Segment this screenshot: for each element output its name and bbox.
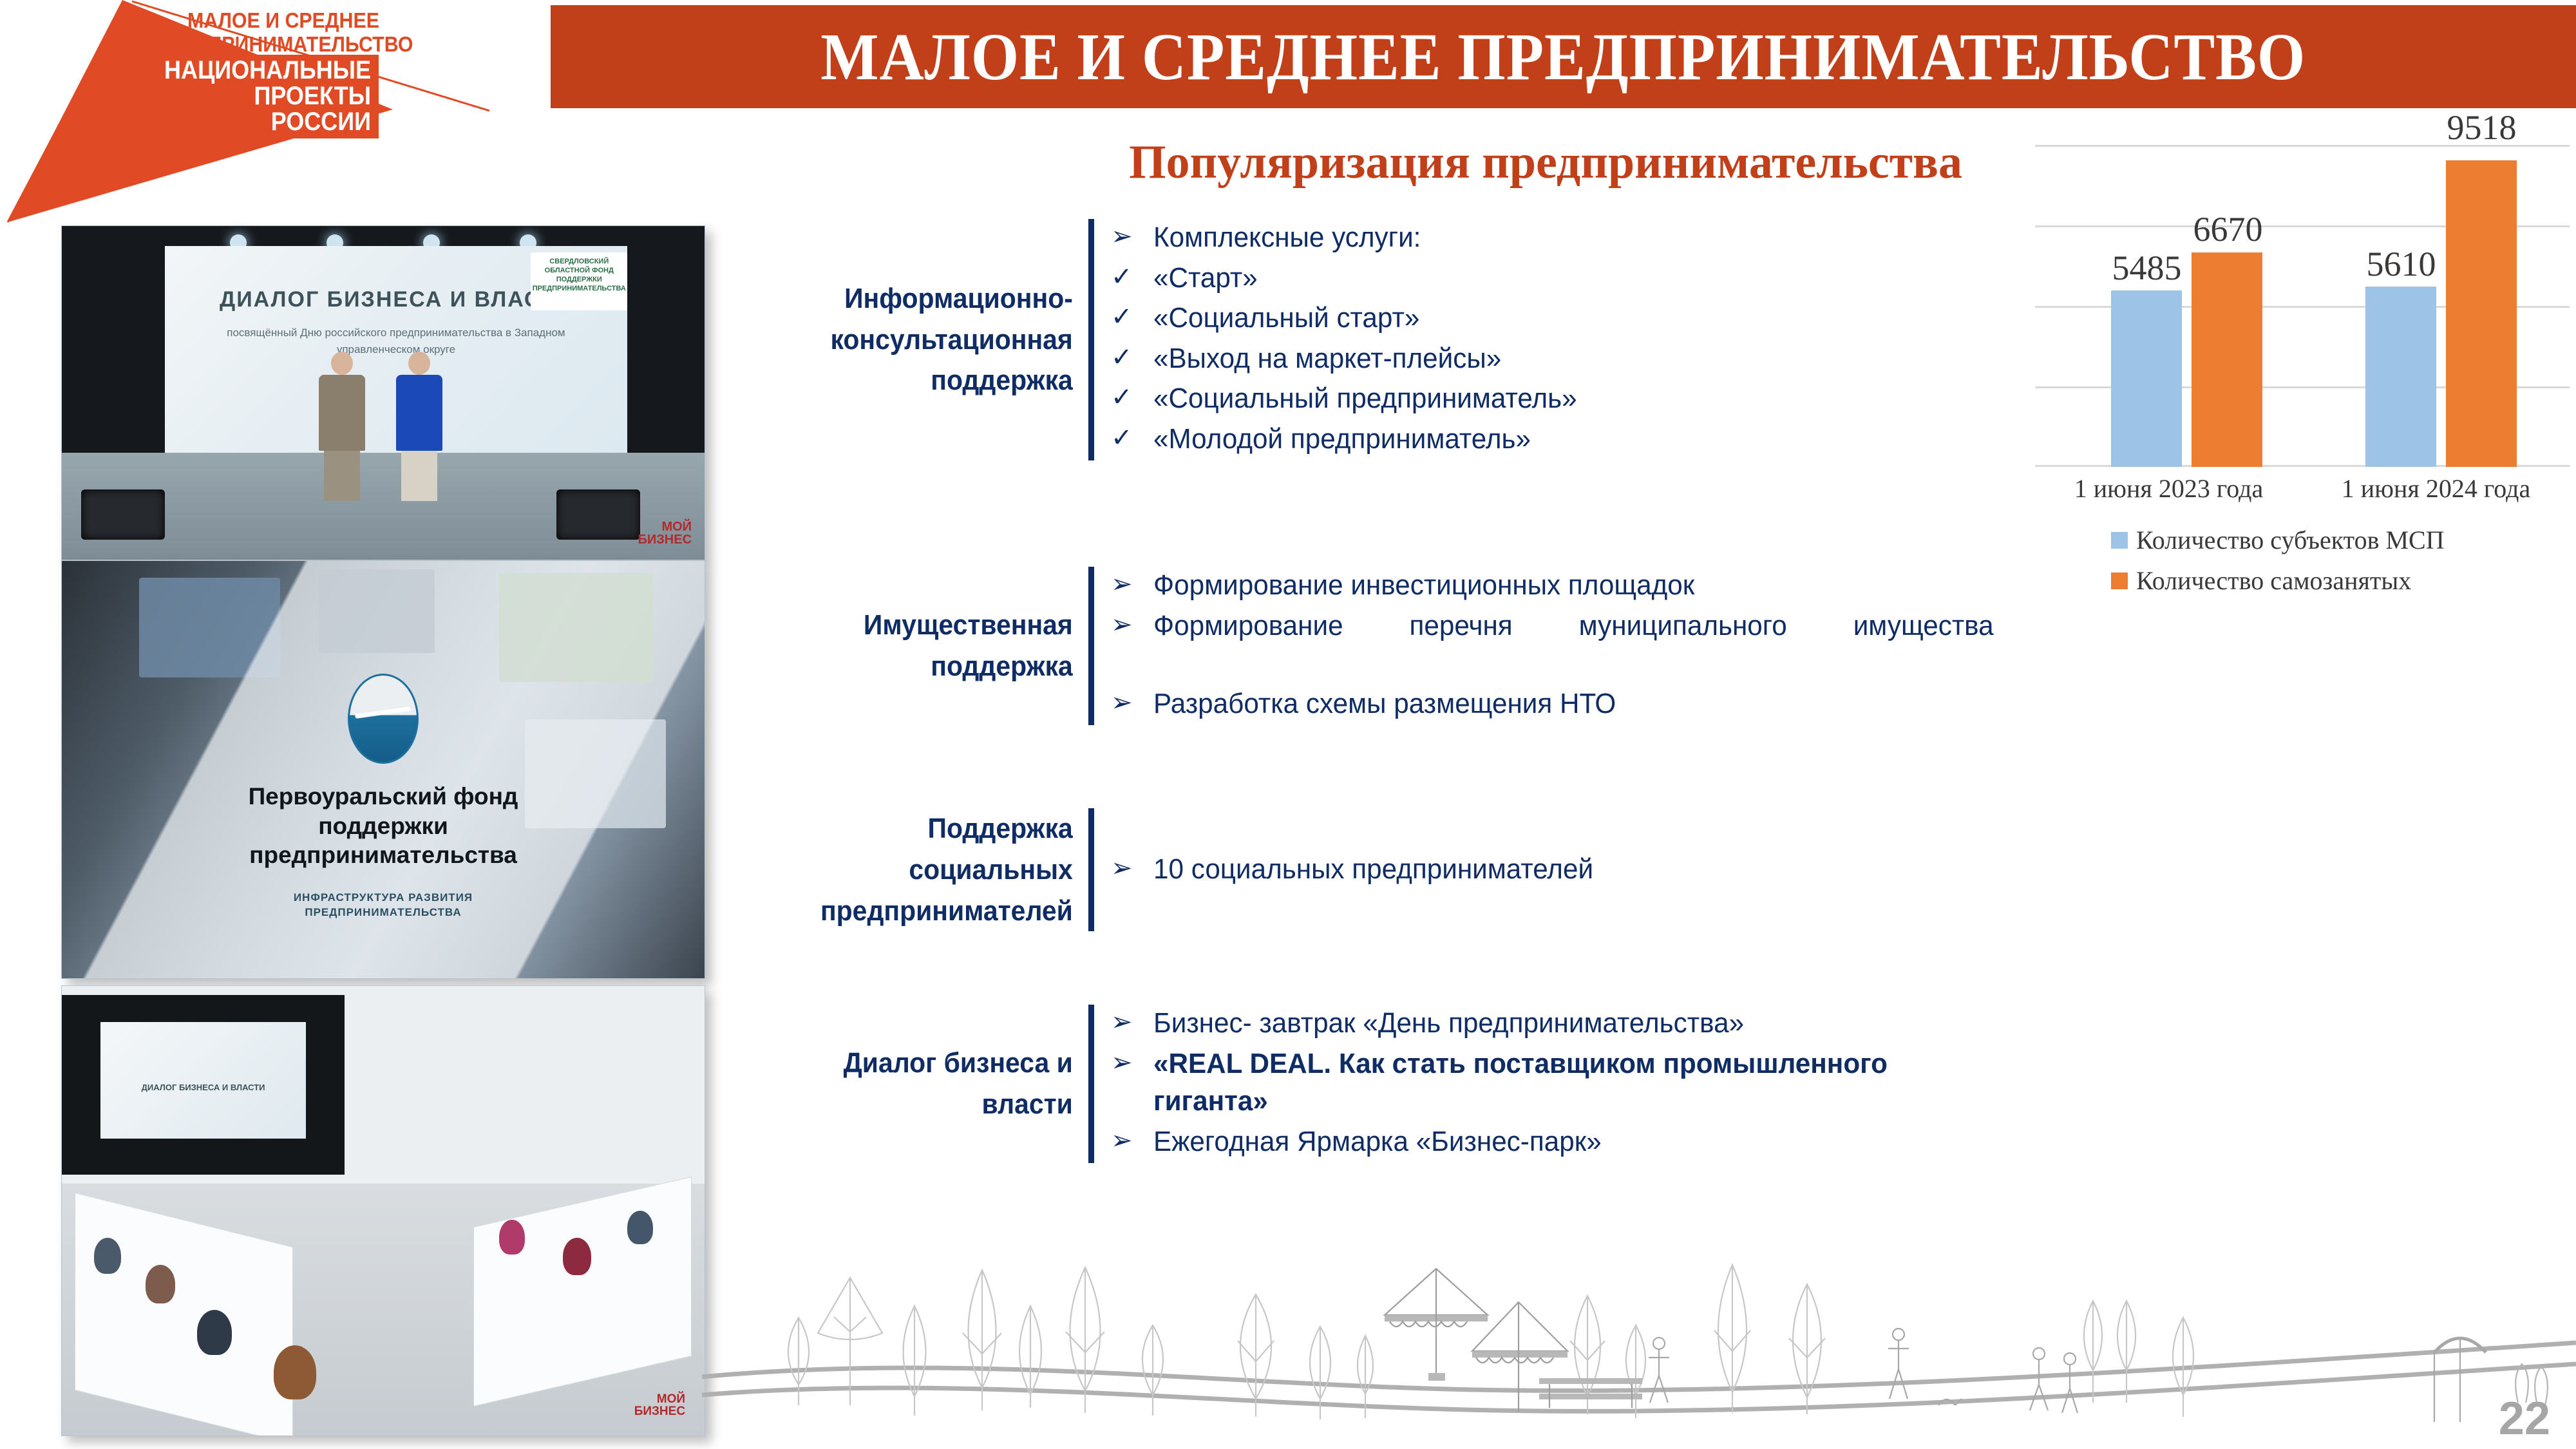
footer-park-illustration: 22 [702, 1256, 2576, 1449]
list-item: ➢ Ежегодная Ярмарка «Бизнес-парк» [1111, 1123, 2029, 1161]
list-item: ➢ «REAL DEAL. Как стать поставщиком пром… [1111, 1045, 2029, 1121]
legend-item-selfemployed: Количество самозанятых [2111, 565, 2445, 596]
list-item-text: Комплексные услуги: [1153, 219, 1994, 257]
block1-list: ➢ Комплексные услуги: ✓ «Старт» ✓ «Социа… [1094, 219, 2029, 460]
arrow-bullet-icon: ➢ [1111, 851, 1153, 885]
photo3-wm-line2: БИЗНЕС [634, 1405, 685, 1417]
photo2-title-line3: предпринимательства [113, 840, 653, 869]
list-item-text: «Молодой предприниматель» [1153, 421, 1994, 459]
content-block-information-support: Информационно-консультационная поддержка… [741, 219, 2029, 460]
chart-bar-selfemployed-2024 [2446, 160, 2517, 467]
legend-swatch-orange-icon [2111, 573, 2128, 589]
chart-bar-msp-2023 [2111, 290, 2182, 467]
block3-divider [1088, 808, 1094, 931]
block4-list: ➢ Бизнес- завтрак «День предпринимательс… [1094, 1005, 2029, 1163]
photo-pervouralsk-fund: Первоуральский фонд поддержки предприним… [61, 560, 705, 979]
content-block-social-entrepreneurs: Поддержка социальных предпринимателей ➢ … [741, 808, 2029, 931]
list-item: ✓ «Молодой предприниматель» [1111, 421, 2029, 459]
list-item: ✓ «Выход на маркет-плейсы» [1111, 340, 2029, 378]
photo1-speaker-left [81, 489, 165, 540]
list-item: ➢ Разработка схемы размещения НТО [1111, 685, 2029, 723]
page-number: 22 [2499, 1392, 2550, 1445]
list-item-text: Формирование перечня муниципального имущ… [1153, 607, 1994, 683]
photo3-screen-title: ДИАЛОГ БИЗНЕСА И ВЛАСТИ [100, 1083, 306, 1092]
photo3-attendee [627, 1211, 653, 1244]
block3-list: ➢ 10 социальных предпринимателей [1094, 808, 2029, 931]
photo3-attendee [274, 1345, 316, 1399]
check-bullet-icon: ✓ [1111, 299, 1153, 334]
list-item: ➢ Бизнес- завтрак «День предпринимательс… [1111, 1005, 2029, 1043]
block4-divider [1088, 1005, 1094, 1163]
photo1-person-right [396, 352, 442, 500]
list-item: ✓ «Социальный старт» [1111, 299, 2029, 337]
list-item-text: 10 социальных предпринимателей [1153, 851, 1593, 889]
chart-category-2024: 1 июня 2024 года [2342, 473, 2530, 504]
park-line-art-icon [702, 1256, 2576, 1449]
chart-bar-msp-2024 [2365, 287, 2436, 467]
check-bullet-icon: ✓ [1111, 260, 1153, 294]
list-item: ➢ Комплексные услуги: [1111, 219, 2029, 257]
legend-label-msp: Количество субъектов МСП [2136, 525, 2445, 555]
logo-badge-line-3: РОССИИ [142, 109, 371, 135]
photo1-wm-line2: БИЗНЕС [638, 533, 692, 546]
photo1-fund-logo: СВЕРДЛОВСКИЙ ОБЛАСТНОЙ ФОНД ПОДДЕРЖКИ ПР… [531, 252, 627, 310]
logo-top-text: МАЛОЕ И СРЕДНЕЕ ПРЕДПРИНИМАТЕЛЬСТВО [117, 9, 449, 57]
block1-divider [1088, 219, 1094, 460]
block3-label: Поддержка социальных предпринимателей [765, 808, 1088, 931]
content-block-property-support: Имущественная поддержка ➢ Формирование и… [741, 567, 2029, 725]
chart-label-selfemployed-2024: 9518 [2425, 108, 2538, 147]
logo-top-line-2: ПРЕДПРИНИМАТЕЛЬСТВО [117, 33, 449, 57]
arrow-bullet-icon: ➢ [1111, 219, 1153, 254]
logo-badge: НАЦИОНАЛЬНЫЕ ПРОЕКТЫ РОССИИ [108, 55, 379, 138]
list-item-text: Разработка схемы размещения НТО [1153, 685, 1994, 723]
arrow-bullet-icon: ➢ [1111, 1045, 1153, 1080]
block2-divider [1088, 567, 1094, 725]
photo3-wm-line1: МОЙ [634, 1393, 685, 1405]
check-bullet-icon: ✓ [1111, 340, 1153, 375]
photo3-attendee [146, 1265, 175, 1303]
photo3-attendee [197, 1310, 232, 1355]
photo3-attendee [499, 1220, 525, 1255]
msp-self-employed-bar-chart: 5485 6670 5610 9518 1 июня 2023 года 1 и… [2035, 145, 2570, 634]
photo2-title-line2: поддержки [113, 811, 653, 840]
legend-item-msp: Количество субъектов МСП [2111, 525, 2445, 555]
logo-badge-line-2: ПРОЕКТЫ [142, 83, 371, 109]
chart-category-axis: 1 июня 2023 года 1 июня 2024 года [2035, 473, 2570, 504]
photo3-projection-screen: ДИАЛОГ БИЗНЕСА И ВЛАСТИ [100, 1022, 306, 1139]
arrow-bullet-icon: ➢ [1111, 607, 1153, 642]
photo2-title-line1: Первоуральский фонд [113, 782, 653, 811]
logo-top-line-1: МАЛОЕ И СРЕДНЕЕ [117, 9, 449, 33]
national-projects-logo: МАЛОЕ И СРЕДНЕЕ ПРЕДПРИНИМАТЕЛЬСТВО НАЦИ… [0, 0, 489, 225]
photo3-attendee [563, 1238, 591, 1275]
list-item-text: «Социальный старт» [1153, 299, 1994, 337]
list-item: ✓ «Старт» [1111, 260, 2029, 298]
check-bullet-icon: ✓ [1111, 380, 1153, 415]
list-item-text: «Выход на маркет-плейсы» [1153, 340, 1994, 378]
list-item-text: Формирование инвестиционных площадок [1153, 567, 1994, 605]
chart-label-msp-2024: 5610 [2345, 244, 2458, 284]
chart-label-selfemployed-2023: 6670 [2172, 209, 2284, 249]
photo1-speaker-right [556, 489, 640, 540]
arrow-bullet-icon: ➢ [1111, 1005, 1153, 1039]
photo2-sub-line2: ПРЕДПРИНИМАТЕЛЬСТВА [126, 905, 640, 920]
photo2-title: Первоуральский фонд поддержки предприним… [113, 782, 653, 869]
list-item: ➢ Формирование инвестиционных площадок [1111, 567, 2029, 605]
block2-label: Имущественная поддержка [765, 567, 1088, 725]
block1-label: Информационно-консультационная поддержка [765, 219, 1088, 460]
photo3-mybusiness-watermark: МОЙ БИЗНЕС [634, 1393, 685, 1417]
legend-swatch-blue-icon [2111, 532, 2128, 549]
photo-conference-hall: ДИАЛОГ БИЗНЕСА И ВЛАСТИ МОЙ БИЗНЕС [61, 985, 705, 1436]
check-bullet-icon: ✓ [1111, 421, 1153, 455]
list-item-text: «Социальный предприниматель» [1153, 380, 1994, 418]
slide-header-banner: МАЛОЕ И СРЕДНЕЕ ПРЕДПРИНИМАТЕЛЬСТВО [551, 5, 2576, 108]
chart-plot-area: 5485 6670 5610 9518 [2035, 145, 2570, 467]
list-item-text: «Старт» [1153, 260, 1994, 298]
legend-label-selfemployed: Количество самозанятых [2136, 565, 2411, 596]
arrow-bullet-icon: ➢ [1111, 685, 1153, 720]
photo2-sub-line1: ИНФРАСТРУКТУРА РАЗВИТИЯ [126, 891, 640, 905]
logo-badge-line-1: НАЦИОНАЛЬНЫЕ [142, 57, 371, 83]
arrow-bullet-icon: ➢ [1111, 1123, 1153, 1158]
photo-award-ceremony: ДИАЛОГ БИЗНЕСА И ВЛАСТИ посвящённый Дню … [61, 225, 705, 560]
chart-legend: Количество субъектов МСП Количество само… [2111, 525, 2445, 606]
photo1-wm-line1: МОЙ [638, 520, 692, 533]
content-block-business-dialogue: Диалог бизнеса и власти ➢ Бизнес- завтра… [741, 1005, 2029, 1163]
photo2-fund-emblem [348, 674, 419, 764]
chart-category-2023: 1 июня 2023 года [2074, 473, 2263, 504]
arrow-bullet-icon: ➢ [1111, 567, 1153, 601]
photo1-mybusiness-watermark: МОЙ БИЗНЕС [638, 520, 692, 546]
list-item: ✓ «Социальный предприниматель» [1111, 380, 2029, 418]
list-item: ➢ Формирование перечня муниципального им… [1111, 607, 2029, 683]
list-item: ➢ 10 социальных предпринимателей [1111, 851, 1612, 889]
list-item-text: «REAL DEAL. Как стать поставщиком промыш… [1153, 1045, 1994, 1121]
list-item-text: Бизнес- завтрак «День предпринимательств… [1153, 1005, 1994, 1043]
photo3-attendee [94, 1238, 121, 1274]
list-item-text: Ежегодная Ярмарка «Бизнес-парк» [1153, 1123, 1994, 1161]
photo1-person-left [319, 352, 365, 500]
section-subtitle: Популяризация предпринимательства [992, 135, 2099, 190]
page-title: МАЛОЕ И СРЕДНЕЕ ПРЕДПРИНИМАТЕЛЬСТВО [821, 19, 2306, 95]
chart-label-msp-2023: 5485 [2090, 248, 2203, 288]
block2-list: ➢ Формирование инвестиционных площадок ➢… [1094, 567, 2029, 725]
block4-label: Диалог бизнеса и власти [765, 1005, 1088, 1163]
photo2-subtitle: ИНФРАСТРУКТУРА РАЗВИТИЯ ПРЕДПРИНИМАТЕЛЬС… [126, 891, 640, 920]
